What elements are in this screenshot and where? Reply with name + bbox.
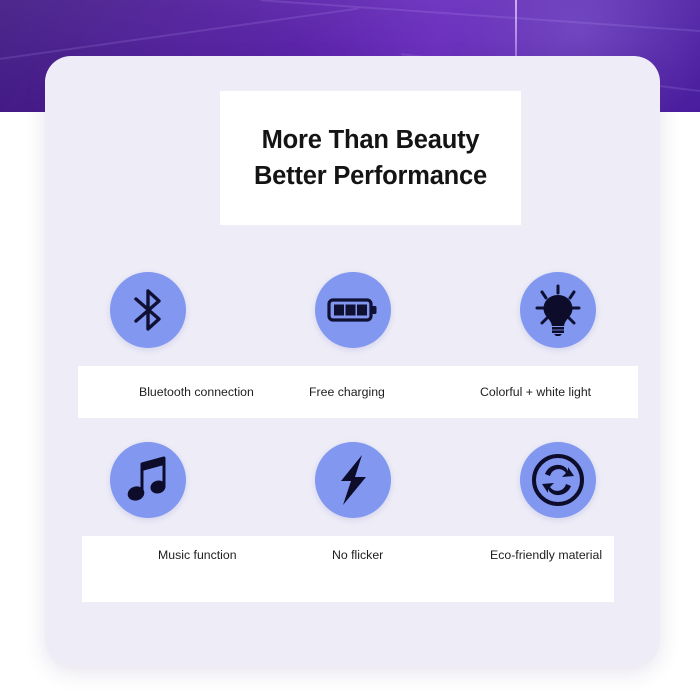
bluetooth-icon xyxy=(126,285,170,335)
feature-label-eco-friendly-material: Eco-friendly material xyxy=(490,548,602,562)
icon-disc xyxy=(315,272,391,348)
music-note-icon xyxy=(125,455,171,505)
page-title-line-2: Better Performance xyxy=(254,158,487,194)
icon-disc xyxy=(315,442,391,518)
label-band-2: Music function No flicker Eco-friendly m… xyxy=(82,536,614,602)
feature-item-eco-friendly-material[interactable] xyxy=(455,424,660,536)
icon-row-1 xyxy=(45,254,660,366)
icon-row-2 xyxy=(45,424,660,536)
lightning-bolt-icon xyxy=(332,454,374,506)
label-band-1: Bluetooth connection Free charging Color… xyxy=(78,366,638,418)
feature-item-bluetooth[interactable] xyxy=(45,254,250,366)
feature-card: More Than Beauty Better Performance xyxy=(45,56,660,666)
icon-disc xyxy=(520,442,596,518)
icon-disc xyxy=(110,442,186,518)
page-title-line-1: More Than Beauty xyxy=(262,122,480,158)
feature-label-free-charging: Free charging xyxy=(309,385,385,399)
lightbulb-icon xyxy=(533,284,583,336)
feature-label-colorful-white-light: Colorful + white light xyxy=(480,385,591,399)
infographic-stage: More Than Beauty Better Performance xyxy=(0,0,700,700)
feature-item-colorful-white-light[interactable] xyxy=(455,254,660,366)
title-panel: More Than Beauty Better Performance xyxy=(220,91,521,225)
feature-label-no-flicker: No flicker xyxy=(332,548,383,562)
feature-label-bluetooth: Bluetooth connection xyxy=(139,385,254,399)
recycle-icon xyxy=(530,452,586,508)
feature-label-music-function: Music function xyxy=(158,548,237,562)
battery-icon xyxy=(327,293,379,327)
feature-item-no-flicker[interactable] xyxy=(250,424,455,536)
icon-disc xyxy=(110,272,186,348)
feature-item-free-charging[interactable] xyxy=(250,254,455,366)
feature-item-music-function[interactable] xyxy=(45,424,250,536)
icon-disc xyxy=(520,272,596,348)
